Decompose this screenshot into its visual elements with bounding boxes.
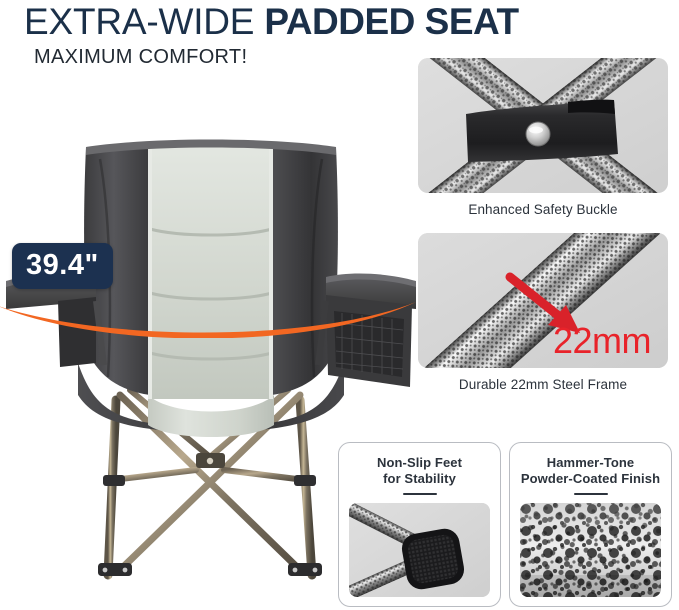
non-slip-feet-title-line1: Non-Slip Feet: [377, 455, 462, 470]
page-title: EXTRA-WIDE PADDED SEAT: [24, 2, 674, 42]
hammer-tone-title: Hammer-Tone Powder-Coated Finish: [520, 455, 661, 487]
seat-width-badge: 39.4": [12, 243, 113, 289]
steel-frame-caption: Durable 22mm Steel Frame: [418, 377, 668, 392]
title-divider: [574, 493, 608, 495]
safety-buckle-photo: [418, 58, 668, 193]
card-non-slip-feet: Non-Slip Feet for Stability: [338, 442, 501, 607]
non-slip-feet-title-line2: for Stability: [383, 471, 456, 486]
feature-steel-frame: 22mm Durable 22mm Steel Frame: [418, 233, 668, 392]
title-light-part: EXTRA-WIDE: [24, 1, 254, 42]
non-slip-feet-title: Non-Slip Feet for Stability: [349, 455, 490, 487]
hammer-tone-title-line1: Hammer-Tone: [547, 455, 635, 470]
safety-buckle-caption: Enhanced Safety Buckle: [418, 202, 668, 217]
title-divider: [403, 493, 437, 495]
feature-safety-buckle: Enhanced Safety Buckle: [418, 58, 668, 217]
page-subtitle: MAXIMUM COMFORT!: [34, 45, 247, 69]
hammer-tone-texture-photo: [520, 503, 661, 597]
non-slip-foot-photo: [349, 503, 490, 597]
card-hammer-tone-finish: Hammer-Tone Powder-Coated Finish: [509, 442, 672, 607]
hammer-tone-title-line2: Powder-Coated Finish: [521, 471, 660, 486]
svg-text:22mm: 22mm: [553, 320, 651, 361]
infographic-page: EXTRA-WIDE PADDED SEAT MAXIMUM COMFORT!: [0, 0, 679, 610]
steel-frame-photo: 22mm: [418, 233, 668, 368]
title-bold-part: PADDED SEAT: [264, 1, 518, 42]
chair-backrest: [84, 140, 338, 400]
